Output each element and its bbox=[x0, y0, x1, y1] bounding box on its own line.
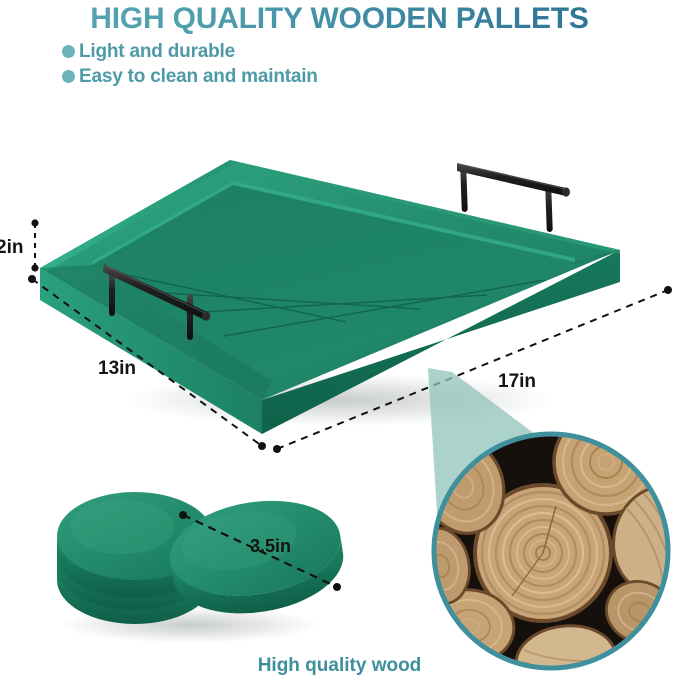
infographic-canvas: HIGH QUALITY WOODEN PALLETS Light and du… bbox=[0, 0, 679, 685]
coaster-group bbox=[57, 489, 350, 643]
dimension-label-width: 17in bbox=[498, 371, 536, 393]
dimension-label-height: 2in bbox=[0, 237, 23, 259]
dimension-label-coaster-diameter: 3.5in bbox=[250, 536, 291, 557]
product-illustration bbox=[0, 0, 679, 685]
wood-inset-caption: High quality wood bbox=[0, 655, 679, 677]
dimension-label-depth: 13in bbox=[98, 358, 136, 380]
